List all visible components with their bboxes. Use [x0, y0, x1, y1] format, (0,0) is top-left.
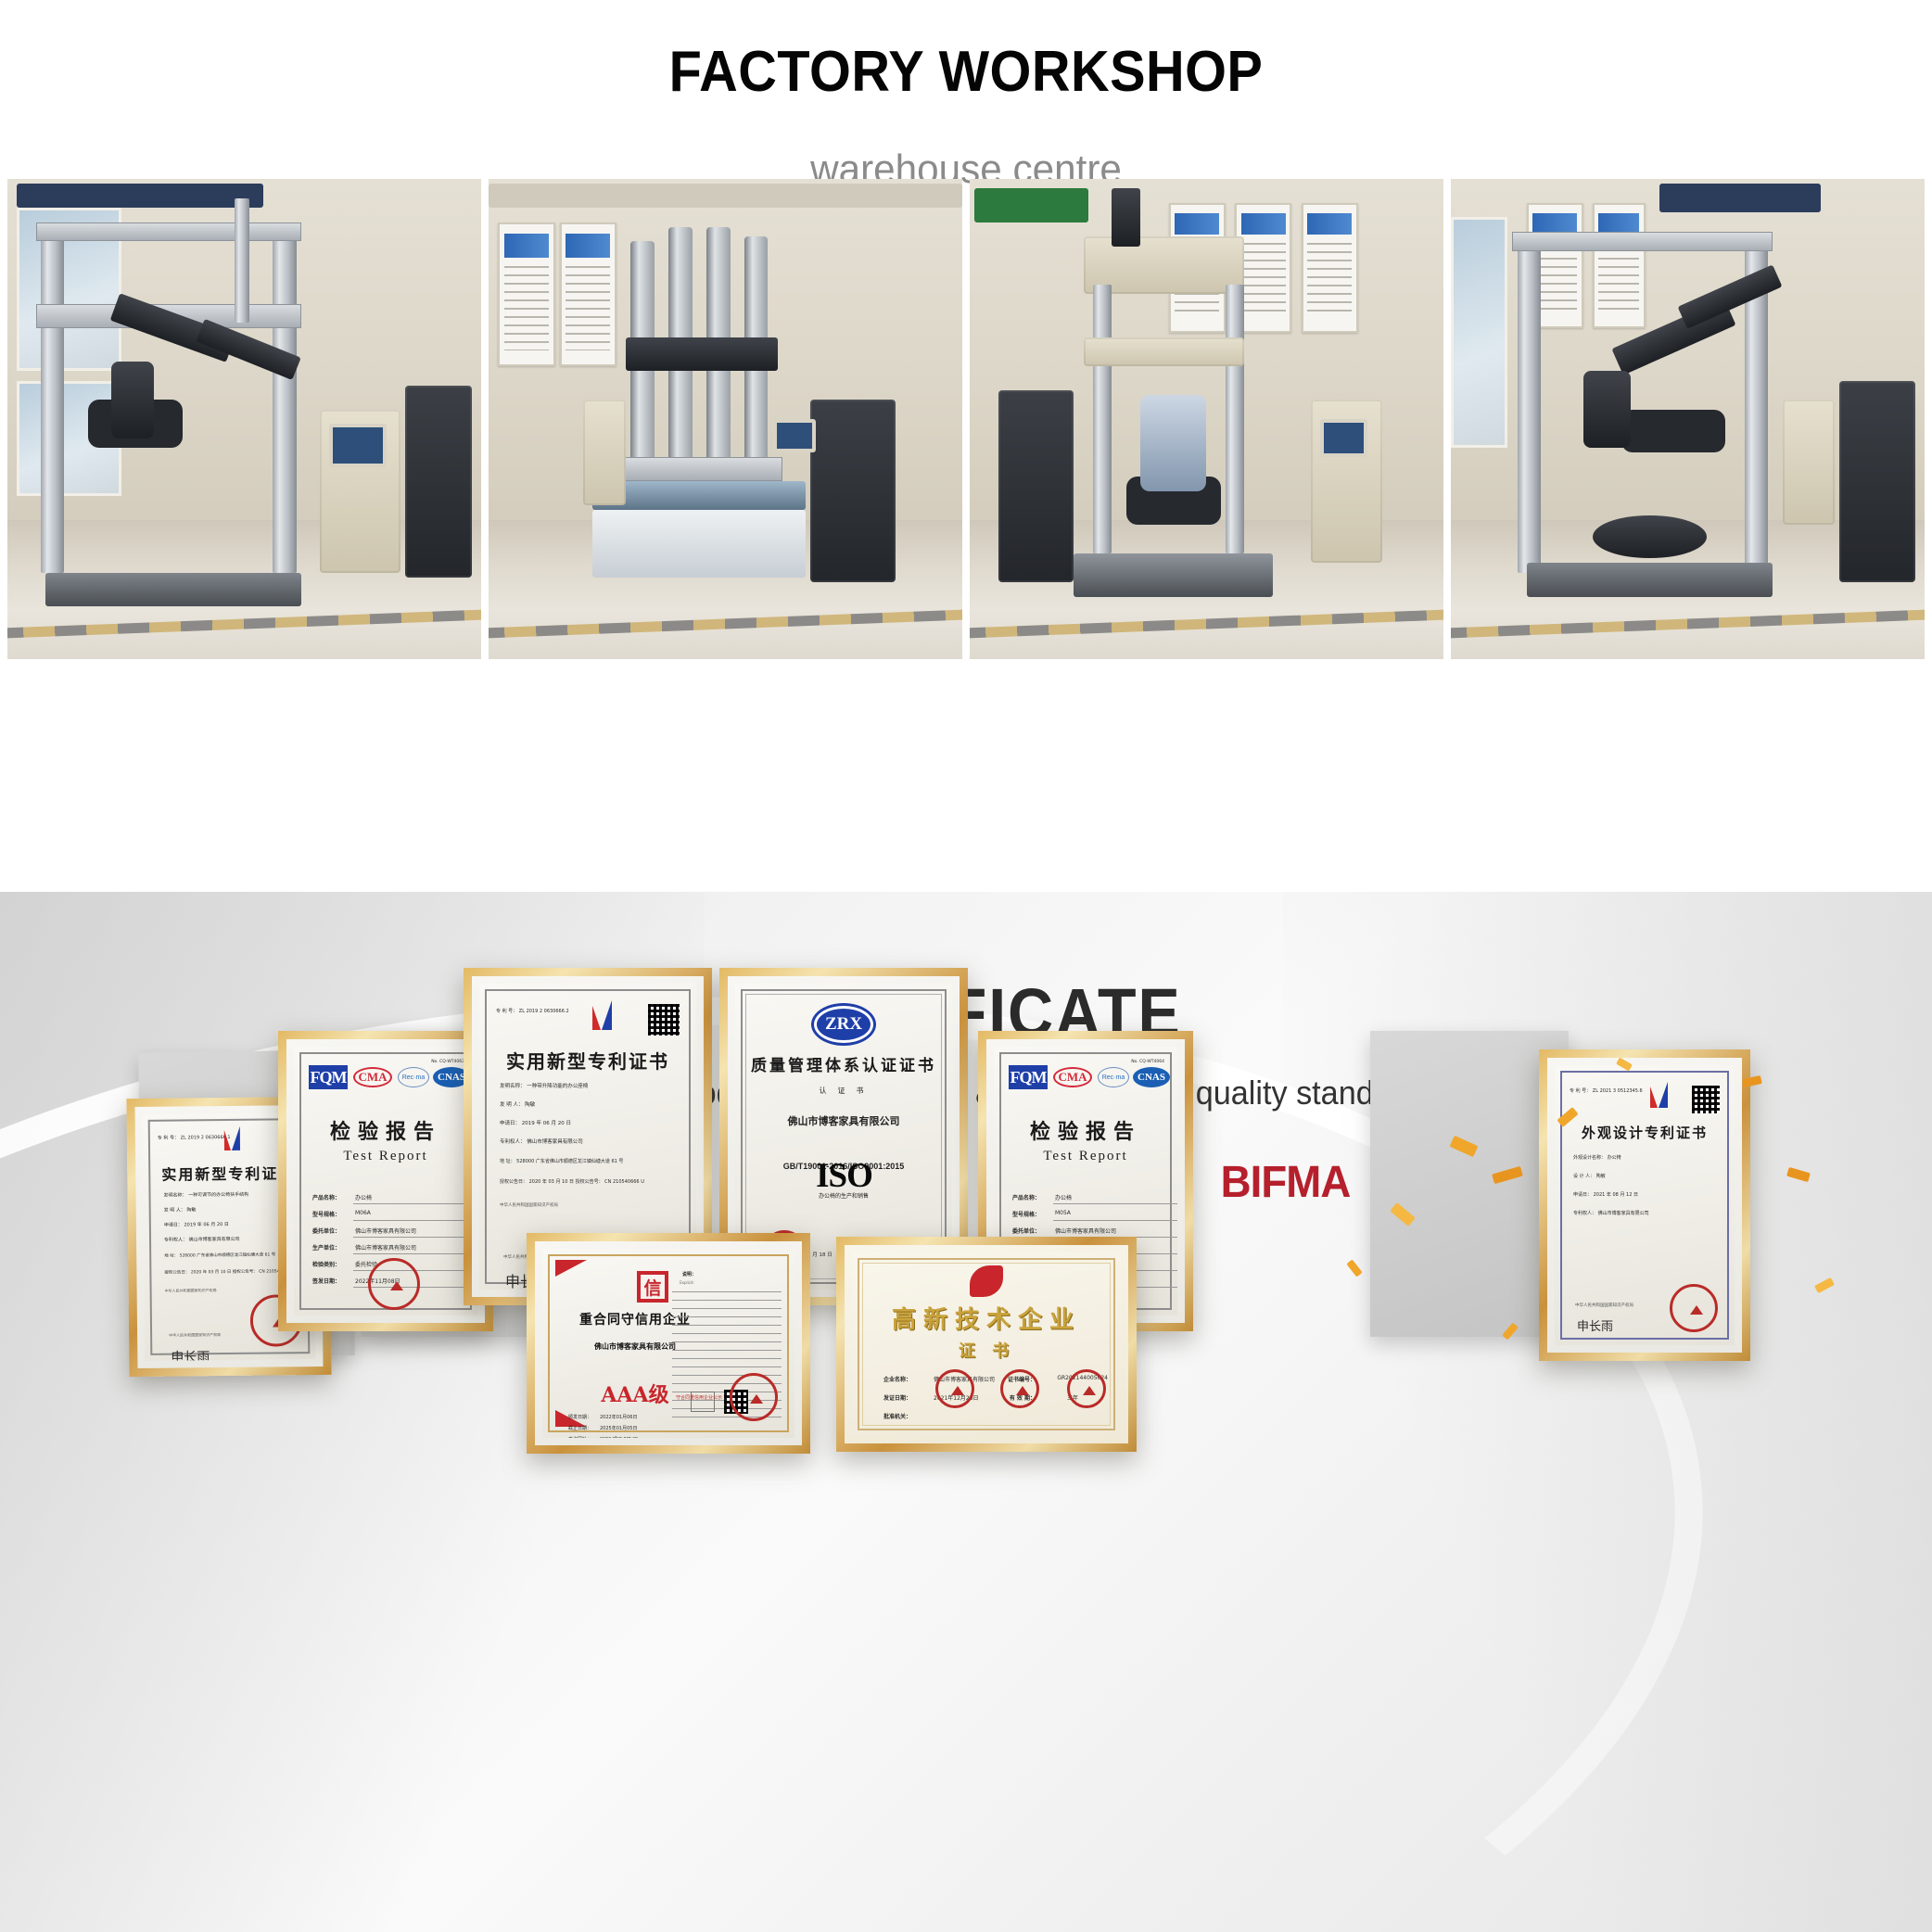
workshop-photo-3[interactable]	[970, 179, 1443, 659]
report-value-1c: 佛山市博客家具有限公司	[355, 1227, 416, 1235]
patent-note-2: 中华人民共和国国家知识产权局	[500, 1202, 558, 1208]
design-field-a: 外观设计名称： 办公椅	[1573, 1154, 1621, 1161]
report-value-1d: 佛山市博客家具有限公司	[355, 1243, 416, 1252]
report-label-1f: 签发日期：	[312, 1277, 340, 1285]
cnas-badge-2: CNAS	[1133, 1067, 1170, 1087]
credit-seal-icon: 信	[637, 1271, 668, 1303]
page-title: FACTORY WORKSHOP	[68, 39, 1864, 105]
report-label-2b: 型号规格：	[1012, 1210, 1040, 1218]
report-no-2: No. CQ-WT4064	[1131, 1060, 1164, 1064]
design-field-c: 申请日： 2021 年 08 月 12 日	[1573, 1191, 1638, 1198]
qms-company: 佛山市博客家具有限公司	[735, 1113, 952, 1128]
report-value-1b: M06A	[355, 1210, 371, 1216]
extra-badge-1: Rec·ma	[398, 1067, 429, 1087]
certificate-heading-6: 外观设计专利证书	[1555, 1123, 1735, 1142]
credit-notes-title-en: Explicit:	[680, 1280, 694, 1285]
certificate-subheading-5: Test Report	[994, 1149, 1177, 1164]
credit-notes-title: 说明：	[682, 1271, 696, 1277]
certificate-section: CERTIFICATE World-class production stand…	[0, 892, 1932, 1932]
patent-signature-1: 申长雨	[171, 1347, 210, 1361]
certificate-heading-4: 质量管理体系认证证书	[735, 1052, 952, 1075]
credit-value-a: 2022年01月06日	[600, 1414, 637, 1420]
certificate-heading-8: 高新技术企业	[852, 1301, 1121, 1335]
patent-field-2d: 专利权人： 佛山市博客家具有限公司	[500, 1138, 583, 1145]
patent-field-1c: 申请日： 2019 年 06 月 20 日	[164, 1221, 229, 1228]
credit-value-c: www.cfcg.org.cn	[600, 1436, 638, 1438]
patent-field-1d: 专利权人： 佛山市博客家具有限公司	[164, 1236, 240, 1243]
credit-label-b: 截止日期：	[568, 1425, 591, 1431]
patent-field-1b: 发 明 人： 陶敏	[164, 1206, 197, 1213]
photo-3-scene	[970, 179, 1443, 659]
certificate-subheading-4: 认 证 书	[735, 1086, 952, 1096]
hightech-label-a: 企业名称：	[883, 1375, 911, 1383]
design-office: 中华人民共和国国家知识产权局	[1575, 1303, 1633, 1308]
report-label-2a: 产品名称：	[1012, 1193, 1040, 1201]
zrx-logo: ZRX	[814, 1006, 873, 1043]
workshop-photo-4[interactable]	[1451, 179, 1925, 659]
certificate-heading-2: 检验报告	[294, 1115, 477, 1145]
report-label-1e: 检验类别：	[312, 1260, 340, 1268]
patent-field-2e: 地 址： 528000 广东省佛山市顺德区龙江镇仙塘大道 61 号	[500, 1158, 623, 1164]
credit-value-b: 2025年01月05日	[600, 1425, 637, 1431]
certificate-design-patent[interactable]: 专 利 号： ZL 2021 3 0512345.6 外观设计专利证书 外观设计…	[1539, 1049, 1750, 1361]
hightech-label-c: 发证日期：	[883, 1393, 911, 1402]
design-field-d: 专利权人： 佛山市博客家具有限公司	[1573, 1210, 1649, 1216]
certificate-aaa-credit-enterprise[interactable]: 信 重合同守信用企业 佛山市博客家具有限公司 AAA级 颁发日期： 2022年0…	[527, 1233, 810, 1454]
patent-field-1e: 地 址： 528000 广东省佛山市顺德区龙江镇仙塘大道 61 号	[164, 1252, 275, 1258]
factory-workshop-section: FACTORY WORKSHOP warehouse centre	[0, 0, 1932, 892]
photo-4-scene	[1451, 179, 1925, 659]
fqm-badge-1: FQM	[309, 1065, 348, 1089]
patent-field-2f: 授权公告日： 2020 年 03 月 10 日 授权公告号： CN 210540…	[500, 1178, 644, 1185]
patent-field-1a: 发明名称： 一种可调节的办公椅扶手结构	[163, 1191, 248, 1199]
certificate-subheading-2: Test Report	[294, 1149, 477, 1164]
report-value-2c: 佛山市博客家具有限公司	[1055, 1227, 1116, 1235]
patent-field-2c: 申请日： 2019 年 06 月 20 日	[500, 1119, 571, 1126]
credit-label-c: 查询网址：	[568, 1436, 591, 1438]
report-no-1: No. CQ-WT4063	[431, 1060, 464, 1064]
report-label-1a: 产品名称：	[312, 1193, 340, 1201]
cma-badge-2: CMA	[1053, 1067, 1092, 1087]
patent-field-2b: 发 明 人： 陶敏	[500, 1100, 535, 1108]
iso-logo-text: ISO	[805, 1156, 884, 1196]
extra-badge-2: Rec·ma	[1098, 1067, 1129, 1087]
report-label-2c: 委托单位：	[1012, 1227, 1040, 1235]
certificate-gallery: 专 利 号： ZL 2019 2 0630666.1 实用新型专利证书 发明名称…	[0, 892, 1932, 1932]
design-signature: 申长雨	[1577, 1316, 1613, 1334]
certificate-subheading-8: 证 书	[852, 1338, 1121, 1362]
photo-2-scene	[489, 179, 962, 659]
photo-1-scene	[7, 179, 481, 659]
fqm-badge-2: FQM	[1009, 1065, 1048, 1089]
workshop-photo-gallery	[7, 179, 1925, 659]
design-field-b: 设 计 人： 陶敏	[1573, 1173, 1606, 1179]
patent-note-1: 中华人民共和国国家知识产权局	[165, 1288, 217, 1294]
report-label-1d: 生产单位：	[312, 1243, 340, 1252]
credit-seal-text: 守合同重信用企业公示	[676, 1394, 722, 1401]
patent-office-1: 中华人民共和国国家知识产权局	[169, 1332, 221, 1339]
report-label-1c: 委托单位：	[312, 1227, 340, 1235]
certificate-high-tech-enterprise[interactable]: 高新技术企业 证 书 企业名称： 佛山市博客家具有限公司 证书编号： GR202…	[836, 1237, 1137, 1452]
workshop-photo-1[interactable]	[7, 179, 481, 659]
credit-label-a: 颁发日期：	[568, 1414, 591, 1420]
patent-number-2: 专 利 号： ZL 2019 2 0630666.2	[496, 1008, 569, 1014]
report-value-2b: M05A	[1055, 1210, 1071, 1216]
hightech-label-e: 批准机关：	[883, 1412, 911, 1420]
report-value-2a: 办公椅	[1055, 1193, 1072, 1201]
design-patent-number: 专 利 号： ZL 2021 3 0512345.6	[1570, 1087, 1643, 1094]
certificate-test-report-1[interactable]: FQM CMA CNAS Rec·ma No. CQ-WT4063 检验报告 T…	[278, 1031, 493, 1331]
report-value-1a: 办公椅	[355, 1193, 372, 1201]
cma-badge-1: CMA	[353, 1067, 392, 1087]
patent-field-2a: 发明名称： 一种带升降功能的办公座椅	[500, 1082, 588, 1089]
certificate-heading-5: 检验报告	[994, 1115, 1177, 1145]
patent-number-1: 专 利 号： ZL 2019 2 0630666.1	[158, 1134, 231, 1141]
workshop-photo-2[interactable]	[489, 179, 962, 659]
report-label-1b: 型号规格：	[312, 1210, 340, 1218]
certificate-heading-3: 实用新型专利证书	[479, 1047, 696, 1074]
